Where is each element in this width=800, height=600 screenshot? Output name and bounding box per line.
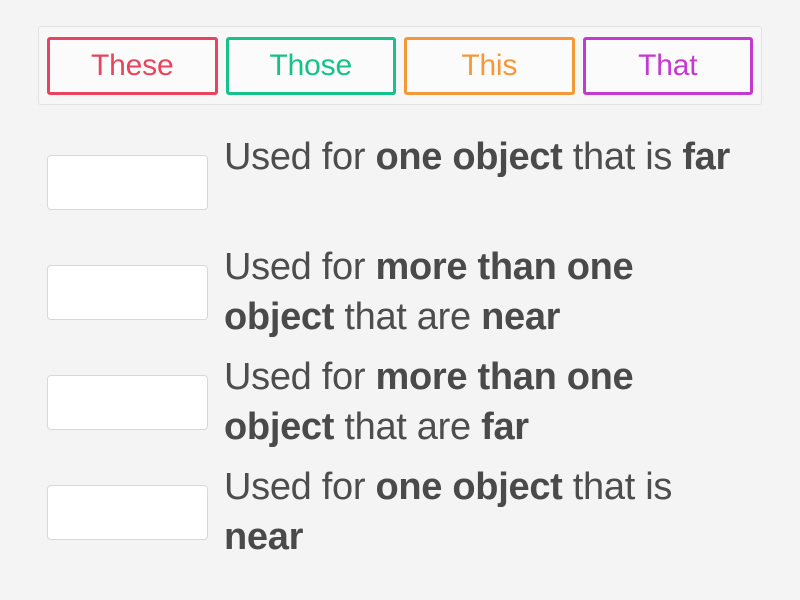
- answer-row: Used for one object that is far: [0, 122, 800, 232]
- activity-page: These Those This That Used for one objec…: [0, 0, 800, 600]
- answer-rows: Used for one object that is far Used for…: [0, 122, 800, 562]
- draggable-tiles-panel: These Those This That: [38, 26, 762, 105]
- dropzone-row-4[interactable]: [47, 485, 208, 540]
- answer-row: Used for more than one object that are f…: [0, 342, 800, 452]
- tile-those[interactable]: Those: [226, 37, 397, 95]
- tile-these-label: These: [91, 51, 173, 81]
- answer-row: Used for one object that is near: [0, 452, 800, 562]
- tile-this[interactable]: This: [404, 37, 575, 95]
- row-2-definition: Used for more than one object that are n…: [224, 242, 744, 342]
- dropzone-row-1[interactable]: [47, 155, 208, 210]
- row-1-definition: Used for one object that is far: [224, 132, 744, 182]
- answer-row: Used for more than one object that are n…: [0, 232, 800, 342]
- tile-these[interactable]: These: [47, 37, 218, 95]
- dropzone-row-3[interactable]: [47, 375, 208, 430]
- tile-those-label: Those: [270, 51, 352, 81]
- dropzone-row-2[interactable]: [47, 265, 208, 320]
- row-3-definition: Used for more than one object that are f…: [224, 352, 734, 452]
- tile-this-label: This: [461, 51, 517, 81]
- tile-that-label: That: [638, 51, 697, 81]
- row-4-definition: Used for one object that is near: [224, 462, 744, 562]
- tile-that[interactable]: That: [583, 37, 754, 95]
